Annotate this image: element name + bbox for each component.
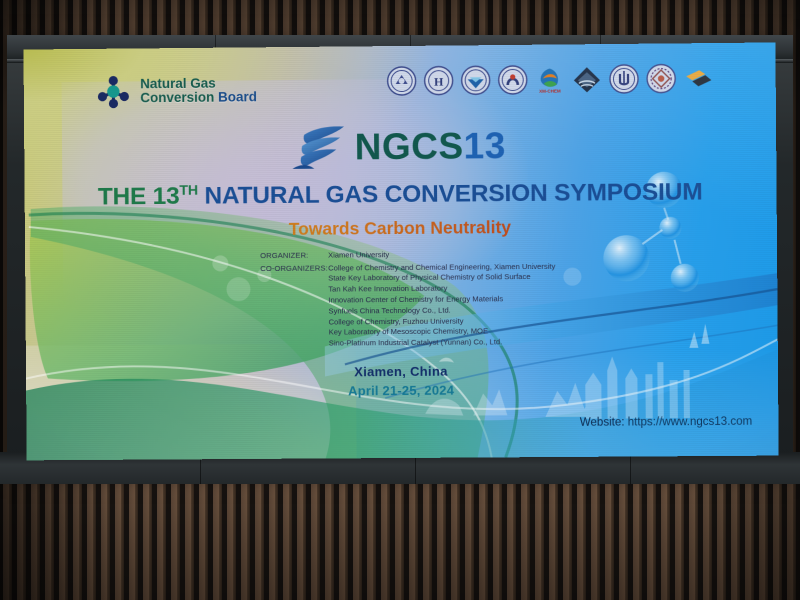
venue-block: Xiamen, China April 21-25, 2024 [26,361,778,400]
organization-logos: H [387,63,714,96]
ngcb-line2: Conversion Board [140,90,257,105]
headline-ordinal: TH [179,183,198,199]
photo-scene: Natural Gas Conversion Board H [0,0,800,600]
diamond-lab-icon [572,64,602,94]
methane-molecule-icon [95,74,131,108]
co-organizers-label: CO-ORGANIZERS: [260,264,328,272]
ngcs-wordmark: NGCS13 [354,125,505,168]
co-organizer-item: Sino-Platinum Industrial Catalyst (Yunna… [329,338,556,347]
ngcb-logo: Natural Gas Conversion Board [95,73,257,108]
frame-seam [630,452,631,484]
svg-text:H: H [434,75,444,89]
co-organizer-item: Tan Kah Kee Innovation Laboratory [328,284,555,293]
organizers-block: ORGANIZER: Xiamen University CO-ORGANIZE… [260,250,556,353]
co-organizer-item: State Key Laboratory of Physical Chemist… [328,273,555,282]
organizer-values: Xiamen University [328,251,389,259]
website-url[interactable]: https://www.ngcs13.com [628,416,753,429]
ngcs-flame-icon [293,122,349,172]
headline-blue: NATURAL GAS CONVERSION SYMPOSIUM [198,179,703,210]
website-label: Website: [580,417,625,429]
co-organizer-item: Synfuels China Technology Co., Ltd. [328,306,555,315]
university-seal-u-icon [609,64,639,94]
university-seal-gear-icon [646,63,676,93]
co-organizer-item: College of Chemistry, Fuzhou University [329,316,556,325]
university-seal-3-icon [461,65,491,95]
co-organizer-item: Innovation Center of Chemistry for Energ… [328,295,555,304]
co-organizer-item: College of Chemistry and Chemical Engine… [328,262,555,271]
ngcb-name: Natural Gas Conversion Board [140,76,257,105]
university-seal-4-icon [498,65,528,95]
headline-green: THE 13 [98,183,180,211]
ngcs-edition: 13 [463,125,506,166]
co-organizers-row: CO-ORGANIZERS: College of Chemistry and … [260,262,556,347]
organizer-label: ORGANIZER: [260,252,328,260]
ngcs-title-row: NGCS13 [24,119,776,175]
sino-platinum-icon [683,63,713,93]
university-seal-1-icon [387,66,417,96]
ngcs-acronym: NGCS [354,125,463,167]
university-seal-h-icon: H [424,65,454,95]
organizer-value: Xiamen University [328,251,389,259]
led-display-panel: Natural Gas Conversion Board H [23,42,778,460]
co-organizers-values: College of Chemistry and Chemical Engine… [328,262,556,347]
website-line: Website: https://www.ngcs13.com [580,416,752,429]
xm-chem-icon: XM-CHEM [535,64,565,94]
organizer-row: ORGANIZER: Xiamen University [260,250,555,260]
svg-text:XM-CHEM: XM-CHEM [539,89,561,94]
co-organizer-item: Key Laboratory of Mesoscopic Chemistry, … [329,327,556,336]
